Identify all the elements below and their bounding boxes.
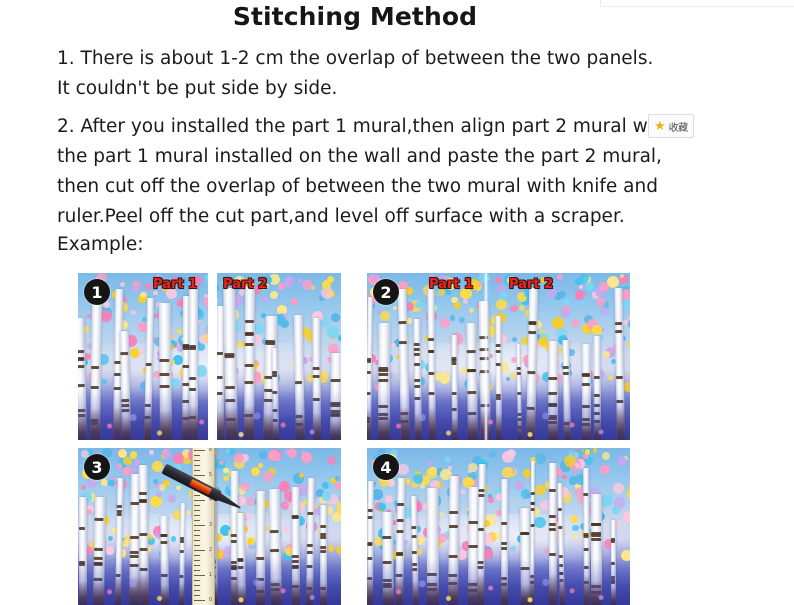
favorite-button-label: 收藏 bbox=[669, 119, 688, 134]
birch-trunk bbox=[558, 483, 566, 605]
birch-trunk bbox=[411, 496, 420, 605]
ruler-tick bbox=[194, 565, 200, 566]
favorite-button[interactable]: ★ 收藏 bbox=[648, 114, 694, 138]
birch-trunk bbox=[291, 487, 300, 605]
ruler-tick bbox=[194, 555, 200, 556]
birch-trunk bbox=[159, 303, 172, 440]
birch-trunk bbox=[477, 464, 486, 605]
ruler-tool: 6543210 bbox=[192, 448, 215, 605]
birch-trunk bbox=[448, 476, 459, 605]
birch-trunk bbox=[466, 323, 478, 440]
birch-trunk bbox=[427, 288, 436, 440]
birch-trunk bbox=[189, 284, 198, 440]
birch-trunk bbox=[501, 479, 508, 605]
ruler-tick bbox=[194, 540, 200, 541]
step-panel-1: Part 1 Part 2 1 bbox=[78, 273, 341, 440]
ruler-tick bbox=[194, 475, 205, 476]
page-title: Stitching Method bbox=[0, 2, 710, 31]
ruler-number: 0 bbox=[209, 598, 212, 603]
ruler-tick bbox=[194, 600, 205, 601]
ruler-tick bbox=[194, 505, 200, 506]
birch-trunk bbox=[614, 287, 625, 440]
ruler-number: 2 bbox=[209, 548, 212, 553]
ruler-tick bbox=[194, 460, 200, 461]
part-1-label: Part 1 bbox=[153, 277, 197, 292]
ruler-tick bbox=[194, 560, 200, 561]
birch-trunk bbox=[120, 331, 132, 440]
birch-trunks bbox=[367, 448, 630, 605]
birch-trunk bbox=[382, 512, 394, 605]
panel-gap-step-1 bbox=[208, 273, 217, 440]
birch-trunk bbox=[516, 344, 522, 440]
birch-trunk bbox=[452, 335, 459, 440]
ruler-tick bbox=[194, 495, 200, 496]
part-2-label: Part 2 bbox=[509, 277, 553, 292]
birch-trunk bbox=[395, 478, 406, 605]
birch-trunk bbox=[367, 297, 373, 440]
birch-trunk bbox=[398, 289, 410, 440]
birch-trunk bbox=[427, 488, 439, 605]
example-label: Example: bbox=[57, 230, 357, 260]
step-badge-3: 3 bbox=[84, 454, 110, 480]
ruler-tick bbox=[194, 535, 200, 536]
birch-trunk bbox=[78, 318, 87, 440]
ruler-number: 3 bbox=[209, 523, 212, 528]
step-badge-2: 2 bbox=[373, 279, 399, 305]
ruler-tick bbox=[194, 450, 205, 451]
birch-trunk bbox=[79, 497, 87, 605]
ruler-tick bbox=[194, 545, 200, 546]
ruler-tick bbox=[194, 585, 200, 586]
birch-trunk bbox=[244, 286, 256, 440]
ruler-tick bbox=[194, 515, 200, 516]
part-2-label: Part 2 bbox=[223, 277, 267, 292]
ruler-tick bbox=[194, 575, 205, 576]
birch-trunk bbox=[320, 505, 328, 605]
birch-trunks bbox=[367, 273, 630, 440]
ruler-tick bbox=[194, 520, 200, 521]
ruler-tick bbox=[194, 570, 200, 571]
stitching-steps-grid: Part 1 Part 2 1 Part 1 Part 2 2 6543210 … bbox=[78, 273, 630, 605]
ruler-tick bbox=[194, 510, 200, 511]
step-badge-1: 1 bbox=[84, 279, 110, 305]
star-icon: ★ bbox=[654, 120, 666, 133]
ruler-tick bbox=[194, 580, 200, 581]
birch-trunk bbox=[90, 294, 102, 440]
birch-trunk bbox=[115, 478, 123, 605]
ruler-tick bbox=[194, 525, 205, 526]
ruler-tick bbox=[194, 500, 205, 501]
birch-trunk bbox=[496, 316, 502, 440]
part-1-label: Part 1 bbox=[429, 277, 473, 292]
artwork-step-4 bbox=[367, 448, 630, 605]
birch-trunk bbox=[144, 298, 154, 440]
birch-trunk bbox=[582, 344, 591, 440]
birch-trunk bbox=[269, 489, 282, 605]
ruler-tick bbox=[194, 595, 200, 596]
birch-trunk bbox=[526, 288, 538, 440]
birch-trunk bbox=[611, 520, 616, 605]
instruction-paragraph-1: 1. There is about 1-2 cm the overlap of … bbox=[57, 44, 697, 104]
birch-trunk bbox=[413, 319, 422, 440]
birch-trunk bbox=[563, 340, 572, 440]
step-panel-2: Part 1 Part 2 2 bbox=[367, 273, 630, 440]
ruler-number: 6 bbox=[209, 448, 212, 453]
birch-trunk bbox=[179, 503, 186, 605]
birch-trunk bbox=[378, 323, 390, 440]
ruler-tick bbox=[194, 590, 200, 591]
birch-trunk bbox=[591, 494, 602, 605]
birch-trunk bbox=[272, 348, 280, 440]
instruction-paragraph-2: 2. After you installed the part 1 mural,… bbox=[57, 112, 677, 232]
birch-trunk bbox=[530, 461, 535, 605]
step-badge-4: 4 bbox=[373, 454, 399, 480]
ruler-tick bbox=[194, 530, 200, 531]
ruler-tick bbox=[194, 465, 200, 466]
birch-trunk bbox=[256, 491, 266, 605]
overlap-seam-step-2 bbox=[485, 273, 487, 440]
step-panel-3: 6543210 3 bbox=[78, 448, 341, 605]
birch-trunk bbox=[160, 516, 169, 605]
ruler-tick bbox=[194, 455, 200, 456]
birch-trunk bbox=[367, 481, 373, 605]
birch-trunk bbox=[93, 497, 106, 605]
birch-trunk bbox=[583, 468, 590, 605]
birch-trunk bbox=[330, 353, 341, 440]
step-panel-4: 4 bbox=[367, 448, 630, 605]
ruler-number: 5 bbox=[209, 473, 212, 478]
birch-trunk bbox=[139, 465, 150, 605]
birch-trunk bbox=[306, 477, 314, 605]
ruler-number: 1 bbox=[209, 573, 212, 578]
birch-trunk bbox=[549, 463, 557, 605]
birch-trunk bbox=[237, 513, 246, 605]
birch-trunk bbox=[294, 315, 305, 440]
birch-trunk bbox=[548, 341, 559, 440]
birch-trunk bbox=[312, 318, 320, 440]
birch-trunk bbox=[223, 288, 237, 440]
ruler-tick bbox=[194, 550, 205, 551]
ruler-tick bbox=[194, 470, 200, 471]
artwork-step-2 bbox=[367, 273, 630, 440]
birch-trunk bbox=[593, 336, 600, 440]
